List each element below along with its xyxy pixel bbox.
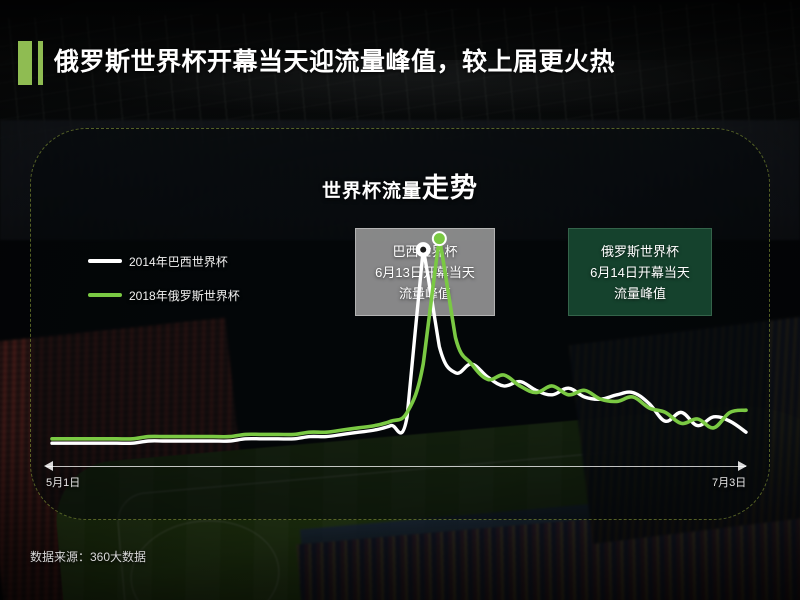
slide-canvas: 俄罗斯世界杯开幕当天迎流量峰值，较上届更火热 世界杯流量走势 2014年巴西世界… — [0, 0, 800, 600]
page-title: 俄罗斯世界杯开幕当天迎流量峰值，较上届更火热 — [54, 42, 615, 78]
header-accent-bar-thick — [18, 41, 32, 85]
chart-legend: 2014年巴西世界杯 2018年俄罗斯世界杯 — [88, 250, 240, 318]
callout-russia-line1: 俄罗斯世界杯 — [601, 241, 679, 262]
chart-title-part1: 世界杯流量 — [322, 181, 422, 202]
arrow-left-icon — [44, 461, 53, 471]
callout-russia-line2: 6月14日开幕当天 — [590, 262, 690, 283]
axis-label-end: 7月3日 — [712, 474, 746, 490]
data-source-note: 数据来源：360大数据 — [30, 548, 146, 565]
callout-brazil-peak: 巴西世界杯 6月13日开幕当天 流量峰值 — [355, 228, 495, 316]
callout-brazil-line1: 巴西世界杯 — [392, 241, 457, 262]
callout-russia-peak: 俄罗斯世界杯 6月14日开幕当天 流量峰值 — [568, 228, 712, 316]
arrow-right-icon — [738, 461, 747, 471]
x-axis-line — [46, 466, 746, 467]
chart-title: 世界杯流量走势 — [0, 166, 800, 205]
legend-label-russia: 2018年俄罗斯世界杯 — [129, 287, 240, 304]
slide-header: 俄罗斯世界杯开幕当天迎流量峰值，较上届更火热 — [0, 38, 800, 96]
line-swatch-white-icon — [88, 259, 122, 263]
legend-item-russia[interactable]: 2018年俄罗斯世界杯 — [88, 284, 240, 306]
legend-label-brazil: 2014年巴西世界杯 — [129, 253, 228, 270]
callout-russia-line3: 流量峰值 — [614, 283, 666, 304]
callout-brazil-line3: 流量峰值 — [399, 283, 451, 304]
header-accent-bar-thin — [38, 41, 43, 85]
line-swatch-green-icon — [88, 293, 122, 297]
legend-item-brazil[interactable]: 2014年巴西世界杯 — [88, 250, 240, 272]
callout-brazil-line2: 6月13日开幕当天 — [375, 262, 475, 283]
axis-label-start: 5月1日 — [46, 474, 80, 490]
chart-title-part2: 走势 — [422, 173, 478, 203]
